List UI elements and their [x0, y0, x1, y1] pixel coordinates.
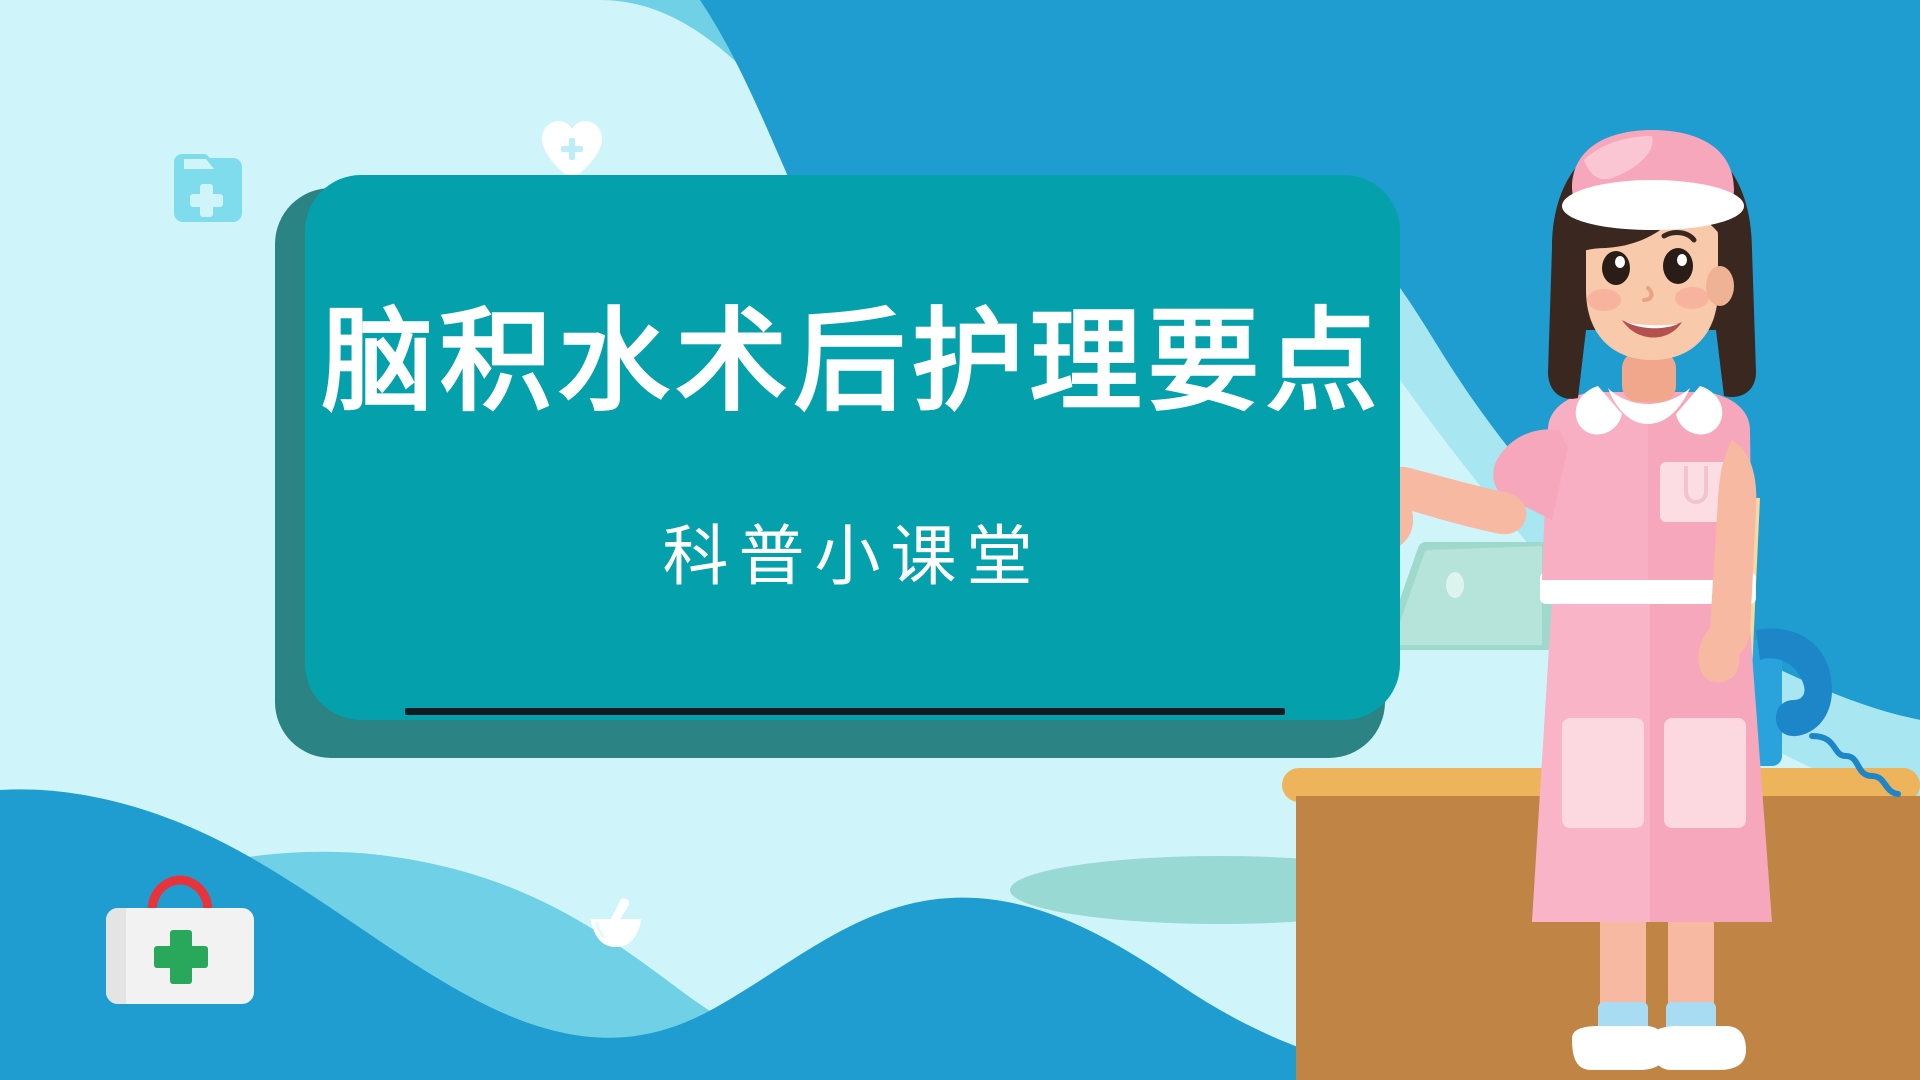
title-card — [305, 175, 1400, 720]
title-underline — [405, 708, 1285, 715]
slide-canvas: 脑积水术后护理要点 科普小课堂 — [0, 0, 1920, 1080]
page-title: 脑积水术后护理要点 — [305, 300, 1400, 423]
page-subtitle: 科普小课堂 — [305, 520, 1400, 593]
laptop — [1382, 542, 1553, 650]
